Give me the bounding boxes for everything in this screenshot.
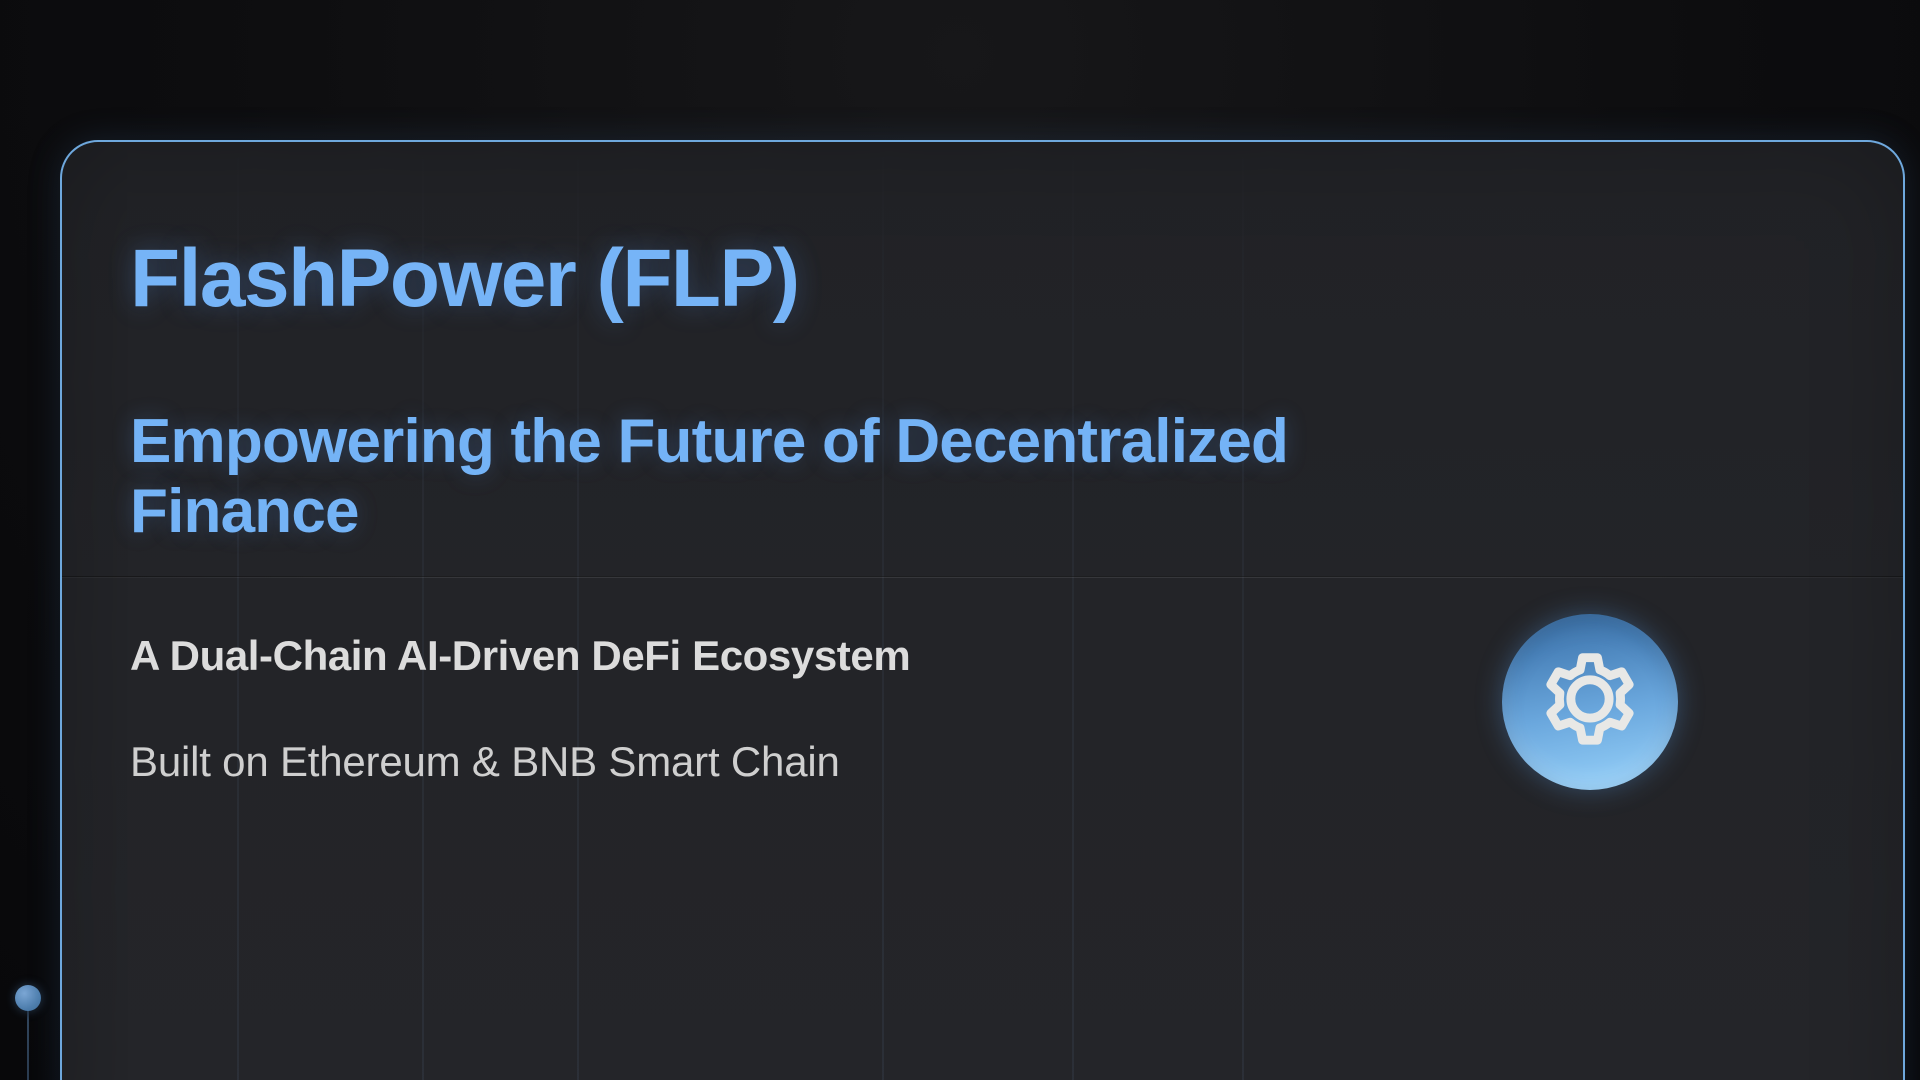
brand-title: FlashPower (FLP)	[130, 237, 799, 321]
tagline-heading: Empowering the Future of Decentralized F…	[130, 407, 1380, 547]
gear-icon	[1534, 646, 1646, 758]
ecosystem-descriptor: A Dual-Chain AI-Driven DeFi Ecosystem	[130, 632, 910, 680]
settings-badge[interactable]	[1502, 614, 1678, 790]
circuit-trace-node	[15, 985, 41, 1011]
section-divider	[62, 576, 1903, 578]
slide-canvas: FlashPower (FLP) Empowering the Future o…	[0, 0, 1920, 1080]
hero-card: FlashPower (FLP) Empowering the Future o…	[60, 140, 1905, 1080]
circuit-trace-line	[27, 1000, 29, 1080]
built-on-chains: Built on Ethereum & BNB Smart Chain	[130, 738, 840, 786]
